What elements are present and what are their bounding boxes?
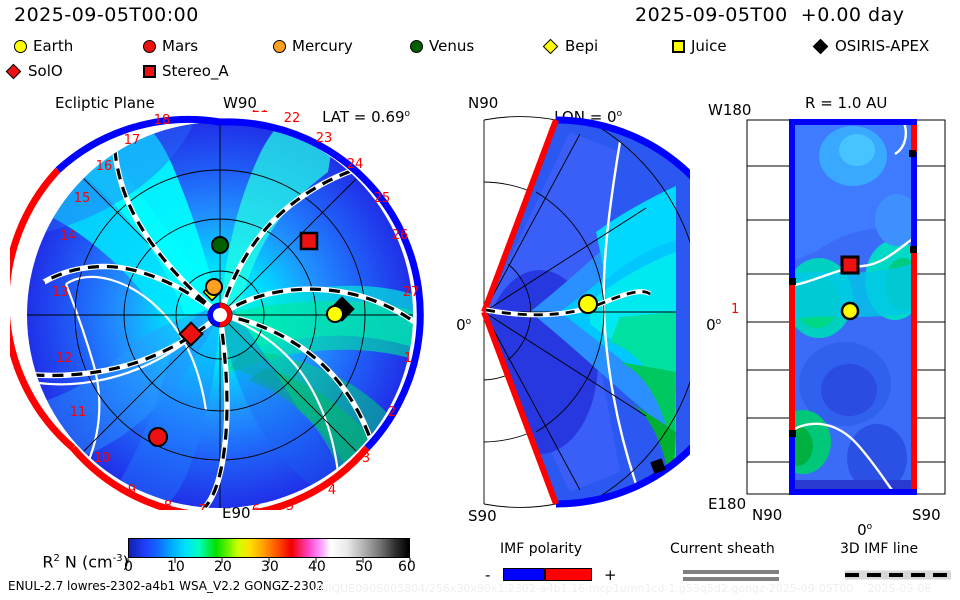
legend-item-solo: SolO [8, 64, 63, 79]
imf-polarity-plus: + [604, 568, 617, 583]
imf-polarity-title: IMF polarity [500, 542, 582, 556]
body-stereo-a[interactable] [842, 257, 858, 273]
svg-text:13: 13 [52, 285, 69, 300]
svg-text:16: 16 [96, 159, 113, 174]
synoptic-bottom-left-label: E180 [708, 497, 746, 512]
legend-label: Bepi [565, 39, 598, 54]
diamond-marker-icon [813, 39, 829, 55]
body-stereo-a[interactable] [301, 233, 317, 249]
legend-label: Mercury [292, 39, 353, 54]
svg-text:15: 15 [74, 191, 91, 206]
svg-text:20: 20 [224, 110, 241, 112]
svg-text:23: 23 [316, 131, 333, 146]
lon-zero-value: 0 [706, 316, 716, 334]
svg-text:24: 24 [347, 157, 364, 172]
meridional-plane-plot[interactable] [470, 112, 690, 512]
svg-text:21: 21 [252, 110, 269, 116]
svg-text:19: 19 [191, 110, 208, 112]
colorbar-tick-50: 50 [355, 560, 373, 574]
body-venus[interactable] [212, 237, 228, 253]
circle-marker-icon [410, 40, 423, 53]
datetime-left: 2025-09-05T00:00 [14, 6, 199, 25]
synoptic-x-right-label: S90 [912, 508, 941, 523]
legend-label: Mars [162, 39, 198, 54]
synoptic-x-left-label: N90 [752, 508, 782, 523]
legend-item-juice: Juice [672, 39, 727, 54]
legend-label: Stereo_A [162, 64, 229, 79]
colorbar-tick-40: 40 [308, 560, 326, 574]
diamond-marker-icon [6, 64, 22, 80]
model-footer-text: ENUL-2.7 lowres-2302-a4b1 WSA_V2.2 GONGZ… [8, 580, 324, 592]
synoptic-row-label: 1 [731, 303, 739, 316]
legend-item-earth: Earth [14, 39, 73, 54]
legend-label: OSIRIS-APEX [835, 39, 929, 54]
legend-label: SolO [28, 64, 63, 79]
svg-text:27: 27 [403, 285, 420, 300]
colorbar-label-units: N (cm [60, 552, 113, 571]
colorbar-tick-30: 30 [261, 560, 279, 574]
legend-item-stereo-a: Stereo_A [143, 64, 229, 79]
svg-text:6: 6 [252, 503, 260, 510]
legend-item-osiris-apex: OSIRIS-APEX [815, 39, 929, 54]
circle-marker-icon [273, 40, 286, 53]
sun-marker [208, 303, 232, 327]
imf-polarity-minus: - [485, 568, 490, 583]
legend-label: Earth [33, 39, 73, 54]
colorbar-label-r: R [42, 552, 53, 571]
degree-sup: o [867, 522, 873, 532]
meridional-right-label: 0o [687, 303, 721, 348]
square-marker-icon [672, 40, 685, 53]
svg-text:5: 5 [286, 499, 294, 510]
legend-label: Juice [691, 39, 727, 54]
svg-text:22: 22 [284, 111, 301, 126]
body-earth[interactable] [579, 295, 597, 313]
ecliptic-panel-title: Ecliptic Plane [55, 96, 155, 111]
body-earth[interactable] [327, 306, 343, 322]
imf-line-title: 3D IMF line [840, 542, 918, 556]
square-marker-icon [143, 65, 156, 78]
svg-text:8: 8 [164, 499, 172, 510]
legend-label: Venus [429, 39, 474, 54]
svg-text:1: 1 [404, 351, 412, 366]
current-sheath-title: Current sheath [670, 542, 775, 556]
colorbar-gradient [128, 538, 410, 558]
imf-polarity-swatch-negative [503, 568, 545, 581]
legend-item-venus: Venus [410, 39, 474, 54]
ecliptic-top-label: W90 [223, 96, 257, 111]
body-earth[interactable] [842, 303, 858, 319]
svg-text:17: 17 [124, 133, 141, 148]
x-mid-value: 0 [857, 521, 867, 539]
legend-item-mars: Mars [143, 39, 198, 54]
svg-text:12: 12 [56, 351, 73, 366]
synoptic-map-plot[interactable] [745, 112, 955, 502]
current-sheath-swatch [683, 577, 779, 581]
imf-polarity-swatch-positive [545, 568, 592, 581]
svg-text:26: 26 [392, 228, 409, 243]
body-mars[interactable] [149, 428, 167, 446]
legend-item-bepi: Bepi [545, 39, 598, 54]
current-sheath-swatch [683, 570, 779, 574]
ecliptic-plane-plot[interactable]: 20 21 19 22 18 23 17 24 16 25 15 26 14 2… [10, 110, 450, 510]
synoptic-panel-title: R = 1.0 AU [805, 96, 887, 111]
svg-text:18: 18 [154, 113, 171, 128]
svg-text:2: 2 [388, 405, 396, 420]
colorbar-tick-0: 0 [124, 560, 133, 574]
circle-marker-icon [143, 40, 156, 53]
body-mercury[interactable] [206, 279, 222, 295]
svg-text:25: 25 [374, 191, 391, 206]
svg-text:7: 7 [198, 503, 206, 510]
svg-text:11: 11 [70, 405, 87, 420]
circle-marker-icon [14, 40, 27, 53]
colorbar-tick-60: 60 [398, 560, 416, 574]
watermark-text: UNIQUE0906005804/256x30x90x1.2302-a4b1.1… [312, 583, 931, 594]
meridional-top-label: N90 [468, 96, 498, 111]
svg-text:3: 3 [362, 451, 370, 466]
svg-text:4: 4 [328, 483, 336, 498]
imf-line-swatch [843, 568, 953, 582]
colorbar-tick-10: 10 [167, 560, 185, 574]
svg-text:9: 9 [128, 483, 136, 498]
datetime-right: 2025-09-05T00 +0.00 day [635, 6, 905, 25]
lon-zero-value: 0 [456, 316, 466, 334]
svg-text:10: 10 [94, 451, 111, 466]
svg-text:14: 14 [60, 229, 77, 244]
diamond-marker-icon [543, 39, 559, 55]
degree-sup: o [716, 317, 722, 327]
colorbar-label-exp2: -3 [113, 553, 123, 564]
legend-item-mercury: Mercury [273, 39, 353, 54]
colorbar-tick-20: 20 [214, 560, 232, 574]
